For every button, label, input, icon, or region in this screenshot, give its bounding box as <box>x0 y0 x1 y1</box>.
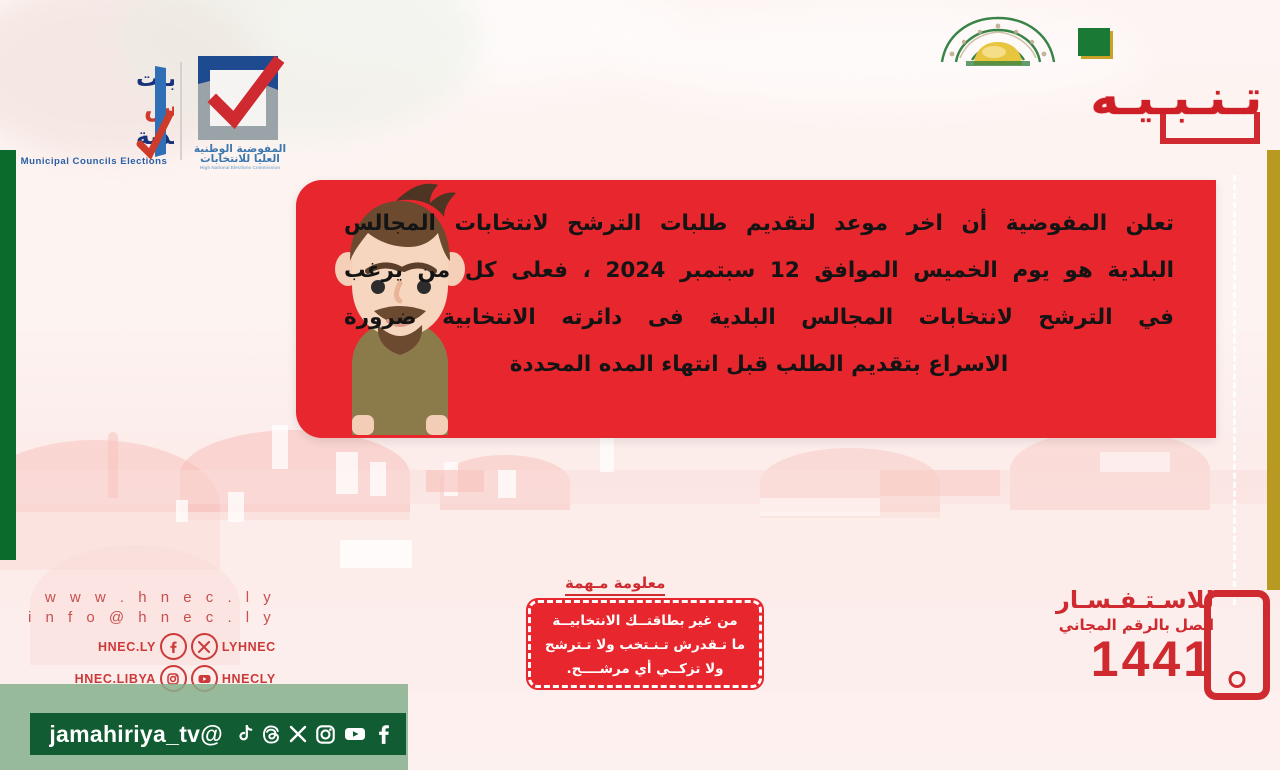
notice-text: تعلن المفوضية أن اخر موعد لتقديم طلبات ا… <box>344 200 1174 420</box>
notice-line: البلدية هو يوم الخميس الموافق 12 سبتمبر … <box>344 247 1174 294</box>
background-building <box>880 470 1000 496</box>
background-building <box>498 470 516 498</box>
left-green-bar <box>0 150 16 560</box>
important-info-line: ولا تزكــي أي مرشــــح. <box>539 657 751 681</box>
header-bracket-decoration <box>1160 112 1260 144</box>
background-building <box>176 500 188 522</box>
hnec-logo: المفوضية الوطنية العليا للانتخابات High … <box>190 50 290 172</box>
notice-line: تعلن المفوضية أن اخر موعد لتقديم طلبات ا… <box>344 200 1174 247</box>
background-band <box>0 470 1280 504</box>
tiktok-icon[interactable] <box>236 725 253 744</box>
svg-text:Municipal Councils Elections: Municipal Councils Elections <box>21 156 168 167</box>
contact-block: w w w . h n e c . l y i n f o @ h n e c … <box>28 588 276 692</box>
website-url[interactable]: w w w . h n e c . l y <box>28 588 276 608</box>
background-building <box>272 425 288 469</box>
background-building <box>600 432 614 472</box>
facebook-handle: HNEC.LY <box>98 640 156 654</box>
poster-canvas: تـنـبـيـه انتخابات المجالس البلدية Munic… <box>0 0 1280 770</box>
instagram-icon[interactable] <box>316 725 335 744</box>
background-building <box>228 492 244 522</box>
logo-divider <box>180 62 182 160</box>
hotline-number: 1441 <box>1091 634 1214 684</box>
notice-line: الاسراع بتقديم الطلب قبل انتهاء المده ال… <box>344 341 1174 388</box>
social-row-1: LYHNEC HNEC.LY <box>28 633 276 660</box>
background-building <box>760 498 880 516</box>
background-building <box>340 540 412 568</box>
tv-handle: @jamahiriya_tv <box>49 721 223 748</box>
svg-text:High National Elections Commis: High National Elections Commission <box>200 165 280 170</box>
right-gold-bar <box>1267 150 1280 590</box>
facebook-icon[interactable] <box>375 724 392 744</box>
dashed-divider <box>1233 175 1236 605</box>
svg-text:العليا للانتخابات: العليا للانتخابات <box>200 153 280 165</box>
email-address[interactable]: i n f o @ h n e c . l y <box>28 608 276 628</box>
mobile-phone-icon <box>1204 590 1270 700</box>
tv-social-bar: @jamahiriya_tv <box>30 713 406 755</box>
important-info-line: ما تـقدرش تـنـتخب ولا تـترشح <box>539 633 751 657</box>
important-info-box: من غير بطاقتــك الانتخابيــة ما تـقدرش ت… <box>528 600 762 688</box>
x-icon[interactable] <box>191 633 218 660</box>
important-info-title: معلومة مـهمة <box>565 574 665 596</box>
important-info-line: من غير بطاقتــك الانتخابيــة <box>539 609 751 633</box>
hotline-label: للاسـتـفـسـار <box>1056 586 1214 614</box>
background-building <box>336 452 358 494</box>
background-building <box>370 462 386 496</box>
municipal-councils-logo: انتخابات المجالس البلدية Municipal Counc… <box>14 58 174 168</box>
x-icon[interactable] <box>289 725 307 743</box>
facebook-icon[interactable] <box>160 633 187 660</box>
green-flag-badge-icon <box>1078 28 1110 56</box>
threads-icon[interactable] <box>262 725 280 744</box>
x-handle: LYHNEC <box>222 640 276 654</box>
background-building <box>426 470 484 492</box>
notice-line: في الترشح لانتخابات المجالس البلدية فى د… <box>344 294 1174 341</box>
background-building <box>1100 452 1170 472</box>
youtube-icon[interactable] <box>344 726 366 742</box>
libya-dome-emblem-icon <box>928 8 1068 66</box>
background-minaret <box>108 432 118 498</box>
